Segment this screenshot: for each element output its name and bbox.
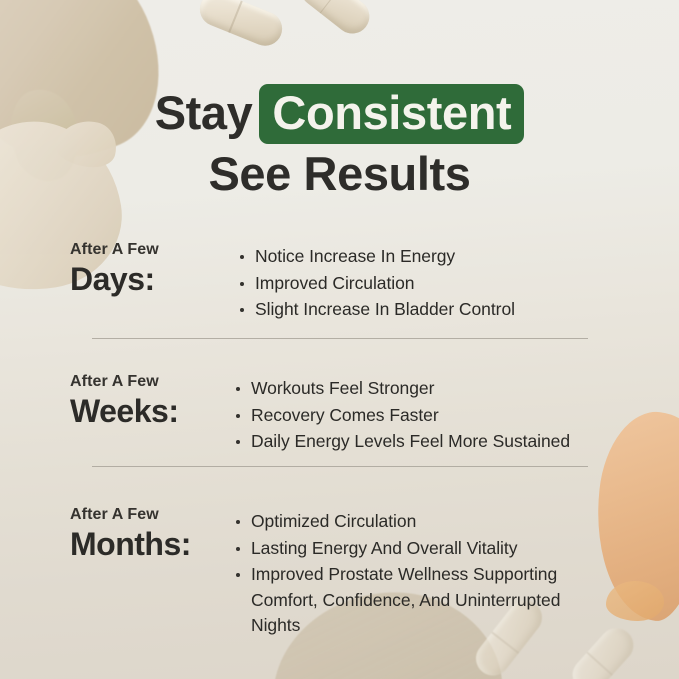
benefit-list-days: Notice Increase In Energy Improved Circu…	[238, 241, 610, 324]
list-item: Lasting Energy And Overall Vitality	[234, 536, 610, 562]
headline-prefix: Stay	[155, 86, 253, 139]
list-item: Recovery Comes Faster	[234, 403, 610, 429]
benefit-list-months: Optimized Circulation Lasting Energy And…	[234, 506, 610, 640]
page-title: StayConsistent See Results	[0, 84, 679, 197]
list-item: Improved Prostate Wellness Supporting Co…	[234, 562, 610, 639]
list-item: Notice Increase In Energy	[238, 244, 610, 270]
section-label-small: After A Few	[70, 373, 238, 391]
capsule-pill-icon	[294, 0, 376, 40]
section-divider	[92, 338, 588, 339]
headline-line-2: See Results	[0, 150, 679, 197]
timeline-section-weeks: After A Few Weeks: Workouts Feel Stronge…	[70, 373, 610, 456]
capsule-pill-icon	[195, 0, 287, 51]
list-item: Improved Circulation	[238, 271, 610, 297]
section-label-months: After A Few Months:	[70, 506, 238, 562]
list-item: Workouts Feel Stronger	[234, 376, 610, 402]
section-label-big: Days:	[70, 262, 238, 298]
list-item: Daily Energy Levels Feel More Sustained	[234, 429, 610, 455]
headline-highlight: Consistent	[259, 84, 524, 144]
section-label-small: After A Few	[70, 241, 238, 259]
ginger-dot-icon	[606, 581, 664, 621]
section-label-days: After A Few Days:	[70, 241, 238, 297]
headline-line-1: StayConsistent	[0, 84, 679, 144]
section-label-big: Weeks:	[70, 394, 238, 430]
benefit-list-weeks: Workouts Feel Stronger Recovery Comes Fa…	[234, 373, 610, 456]
section-label-big: Months:	[70, 527, 238, 563]
list-item: Slight Increase In Bladder Control	[238, 297, 610, 323]
section-label-small: After A Few	[70, 506, 238, 524]
promo-poster: StayConsistent See Results After A Few D…	[0, 0, 679, 679]
list-item: Optimized Circulation	[234, 509, 610, 535]
timeline-section-months: After A Few Months: Optimized Circulatio…	[70, 506, 610, 640]
section-label-weeks: After A Few Weeks:	[70, 373, 238, 429]
section-divider	[92, 466, 588, 467]
timeline-section-days: After A Few Days: Notice Increase In Ene…	[70, 241, 610, 324]
